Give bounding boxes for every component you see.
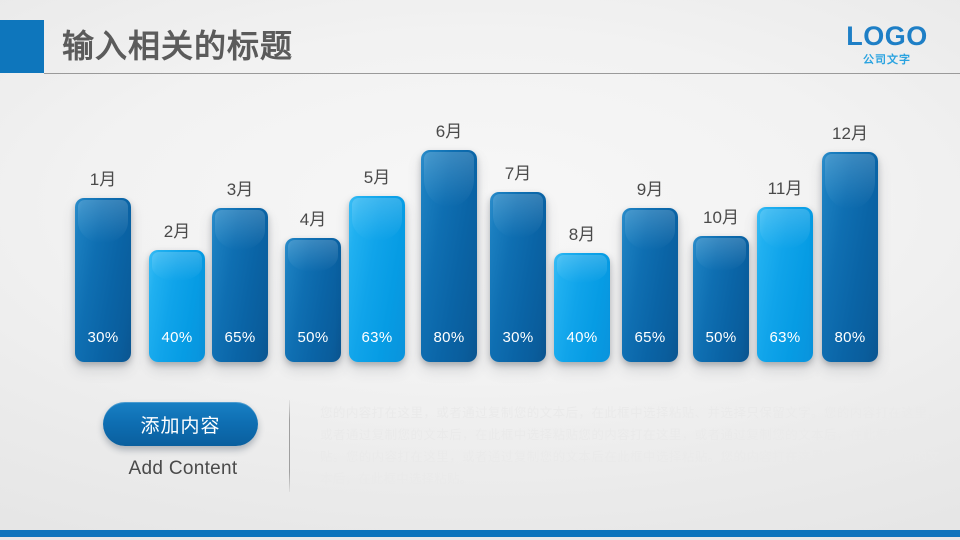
bar[interactable]: 50% <box>285 238 341 362</box>
bar-label: 2月 <box>137 222 217 242</box>
bar-group: 3月65% <box>212 92 268 377</box>
bar-group: 10月50% <box>693 92 749 377</box>
bar-value-label: 30% <box>75 329 131 346</box>
bar-group: 8月40% <box>554 92 610 377</box>
body-paragraph: 您的内容打在这里，或者通过复制您的文本后，在此框中选择粘贴、并选择只保留文字。您… <box>320 402 940 490</box>
bar-gloss <box>152 252 202 281</box>
bar[interactable]: 80% <box>421 150 477 362</box>
bar-value-label: 65% <box>622 329 678 346</box>
slide-header: 输入相关的标题 LOGO 公司文字 <box>0 0 960 78</box>
bar-label: 10月 <box>681 208 761 228</box>
bar[interactable]: 30% <box>490 192 546 362</box>
bar[interactable]: 40% <box>554 253 610 362</box>
bar-label: 6月 <box>409 122 489 142</box>
bar-label: 7月 <box>478 164 558 184</box>
bar[interactable]: 40% <box>149 250 205 362</box>
bar-group: 2月40% <box>149 92 205 377</box>
bar[interactable]: 63% <box>349 196 405 362</box>
bar-label: 11月 <box>745 179 825 199</box>
bar[interactable]: 65% <box>622 208 678 362</box>
bar-gloss <box>215 210 265 250</box>
slide: 输入相关的标题 LOGO 公司文字 1月30%2月40%3月65%4月50%5月… <box>0 0 960 540</box>
logo[interactable]: LOGO 公司文字 <box>822 22 952 68</box>
bar-group: 12月80% <box>822 92 878 377</box>
bar-value-label: 63% <box>757 329 813 346</box>
bar-chart: 1月30%2月40%3月65%4月50%5月63%6月80%7月30%8月40%… <box>0 92 960 377</box>
bar-label: 12月 <box>810 124 890 144</box>
bar-group: 11月63% <box>757 92 813 377</box>
bar[interactable]: 50% <box>693 236 749 362</box>
bar-value-label: 80% <box>421 329 477 346</box>
bar[interactable]: 30% <box>75 198 131 362</box>
bar-value-label: 30% <box>490 329 546 346</box>
bar-gloss <box>288 240 338 272</box>
bar-label: 3月 <box>200 180 280 200</box>
bar-group: 9月65% <box>622 92 678 377</box>
bar-value-label: 65% <box>212 329 268 346</box>
bar-gloss <box>625 210 675 250</box>
logo-text: LOGO <box>822 22 952 51</box>
bar[interactable]: 63% <box>757 207 813 362</box>
add-content-sublabel: Add Content <box>103 458 263 480</box>
bar-label: 5月 <box>337 168 417 188</box>
bar-label: 1月 <box>63 170 143 190</box>
bar-value-label: 80% <box>822 329 878 346</box>
bar-value-label: 50% <box>693 329 749 346</box>
page-title: 输入相关的标题 <box>62 25 293 67</box>
header-divider <box>44 73 960 74</box>
bar-group: 7月30% <box>490 92 546 377</box>
bar-label: 8月 <box>542 225 622 245</box>
bottom-accent-bar <box>0 530 960 537</box>
bar-label: 4月 <box>273 210 353 230</box>
cta-block: 添加内容 Add Content <box>103 402 263 480</box>
bar-gloss <box>424 152 474 207</box>
bar-value-label: 50% <box>285 329 341 346</box>
bar-group: 5月63% <box>349 92 405 377</box>
bar-group: 4月50% <box>285 92 341 377</box>
bar-value-label: 40% <box>554 329 610 346</box>
bar-gloss <box>557 255 607 283</box>
bar-gloss <box>78 200 128 243</box>
bar-gloss <box>760 209 810 249</box>
vertical-divider <box>289 400 290 492</box>
header-accent-block <box>0 20 44 73</box>
bar-gloss <box>352 198 402 241</box>
add-content-button[interactable]: 添加内容 <box>103 402 258 446</box>
bar[interactable]: 65% <box>212 208 268 362</box>
bar-group: 1月30% <box>75 92 131 377</box>
bar-gloss <box>825 154 875 209</box>
bar-gloss <box>696 238 746 271</box>
bar[interactable]: 80% <box>822 152 878 362</box>
bar-group: 6月80% <box>421 92 477 377</box>
bar-label: 9月 <box>610 180 690 200</box>
bar-value-label: 40% <box>149 329 205 346</box>
bar-gloss <box>493 194 543 238</box>
logo-subtitle: 公司文字 <box>822 53 952 68</box>
bar-value-label: 63% <box>349 329 405 346</box>
